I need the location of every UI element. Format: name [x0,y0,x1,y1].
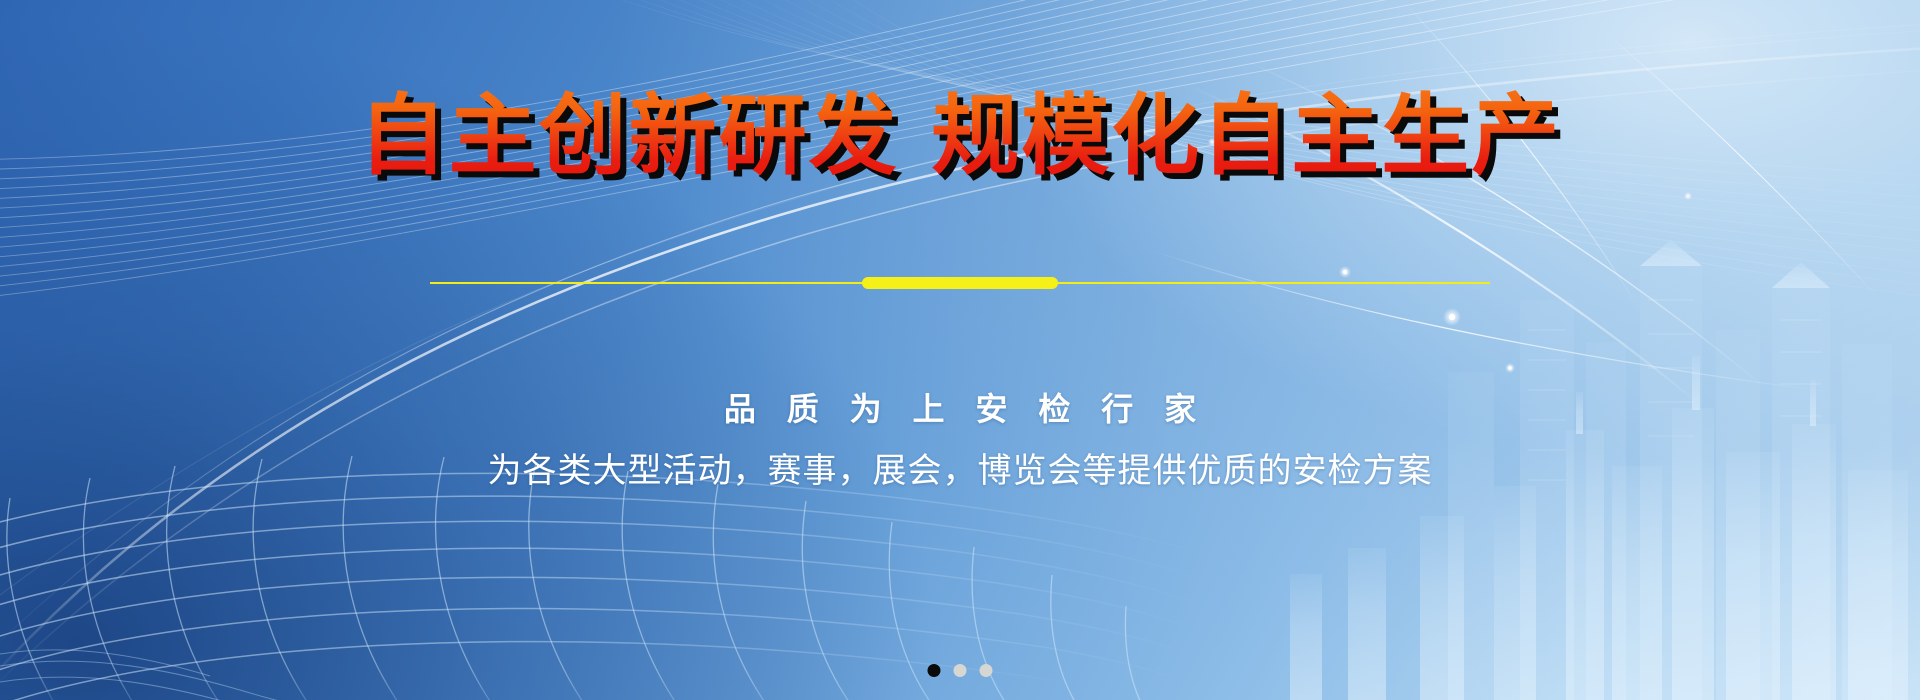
carousel-dot-3[interactable] [980,664,993,677]
carousel-dot-2[interactable] [954,664,967,677]
hero-banner: 自主创新研发 规模化自主生产 自主创新研发 规模化自主生产 品 质 为 上 安 … [0,0,1920,700]
carousel-dot-1[interactable] [928,664,941,677]
yellow-divider [430,276,1490,290]
banner-tagline: 品 质 为 上 安 检 行 家 [0,384,1920,430]
background-city-skyline [0,0,1920,700]
banner-subtitle: 为各类大型活动，赛事，展会，博览会等提供优质的安检方案 [0,443,1920,492]
carousel-dots[interactable] [928,664,993,677]
divider-center-bar [862,277,1058,289]
